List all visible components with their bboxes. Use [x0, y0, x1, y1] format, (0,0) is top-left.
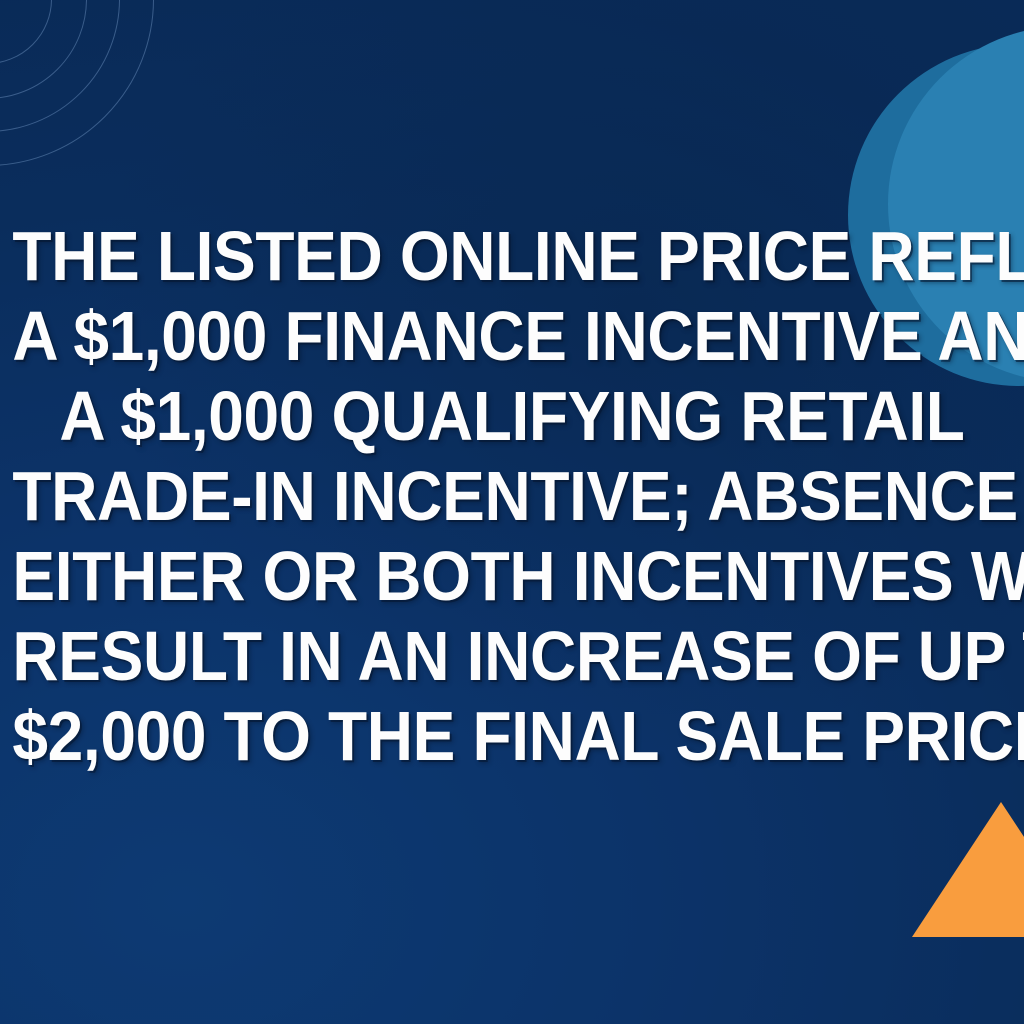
promo-disclaimer-graphic: THE LISTED ONLINE PRICE REFLECTS A $1,00… — [0, 0, 1024, 1024]
headline-line-5: EITHER OR BOTH INCENTIVES WILL — [12, 536, 1011, 616]
headline-line-3: A $1,000 QUALIFYING RETAIL — [12, 376, 1011, 456]
headline-text-block: THE LISTED ONLINE PRICE REFLECTS A $1,00… — [0, 216, 1024, 776]
headline-line-1: THE LISTED ONLINE PRICE REFLECTS — [12, 216, 1011, 296]
headline-line-4: TRADE-IN INCENTIVE; ABSENCE OF — [12, 456, 1011, 536]
triangle-shape — [890, 800, 1024, 937]
headline-line-6: RESULT IN AN INCREASE OF UP TO — [12, 616, 1011, 696]
decorative-triangle — [890, 800, 1024, 937]
headline-line-7: $2,000 TO THE FINAL SALE PRICE. — [12, 696, 1011, 776]
headline-line-2: A $1,000 FINANCE INCENTIVE AND — [12, 296, 1011, 376]
